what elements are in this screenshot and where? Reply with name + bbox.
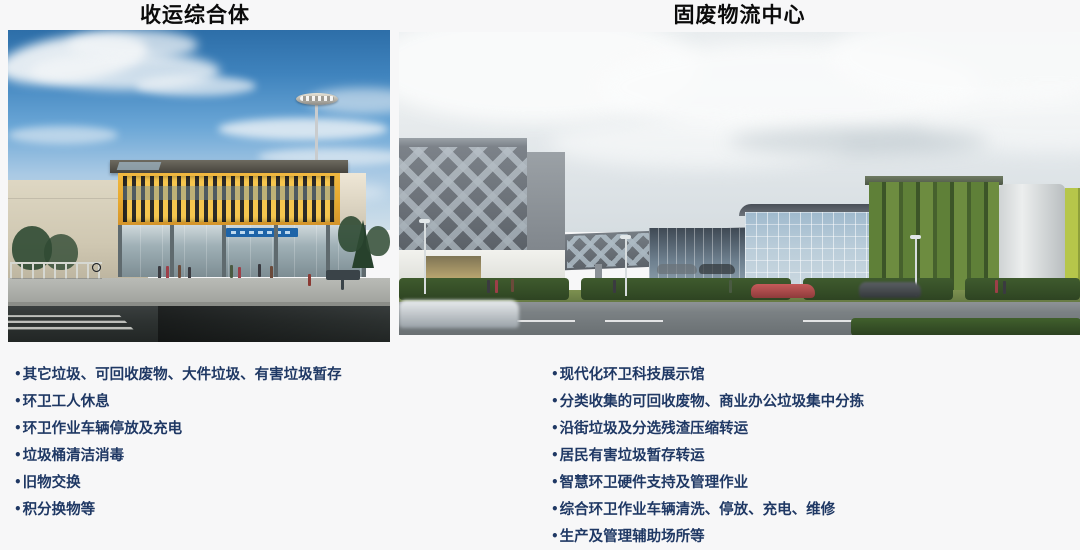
- list-item: 环卫工人休息: [14, 388, 342, 415]
- list-item: 生产及管理辅助场所等: [551, 523, 864, 550]
- foreground-planting: [851, 318, 1080, 335]
- diamond-lattice-pattern: [399, 144, 527, 256]
- left-rendering-image: [8, 30, 390, 342]
- pedestrian: [230, 265, 233, 278]
- tree: [366, 226, 390, 256]
- car-parked: [657, 264, 697, 274]
- left-scene: [8, 30, 390, 342]
- lane-marking: [517, 320, 575, 322]
- column: [274, 225, 278, 277]
- light-pole-head: [296, 93, 338, 105]
- car-red: [751, 284, 815, 298]
- cloud: [218, 118, 388, 140]
- list-item: 旧物交换: [14, 469, 342, 496]
- column: [222, 225, 226, 277]
- pedestrian: [495, 280, 498, 293]
- tree: [338, 216, 364, 252]
- building-side-wall: [527, 152, 565, 256]
- plaza-paving: [8, 278, 390, 304]
- bollard: [308, 274, 311, 286]
- slide-root: 收运综合体 固废物流中心: [0, 0, 1080, 548]
- right-feature-list: 现代化环卫科技展示馆 分类收集的可回收废物、商业办公垃圾集中分拣 沿街垃圾及分选…: [551, 361, 864, 550]
- cloud: [136, 76, 256, 96]
- building-parapet: [399, 138, 527, 147]
- shelter-post: [341, 278, 344, 290]
- street-lamp-head: [419, 219, 430, 223]
- list-item: 综合环卫作业车辆清洗、停放、充电、维修: [551, 496, 864, 523]
- street-lamp-head: [620, 235, 631, 239]
- list-item: 现代化环卫科技展示馆: [551, 361, 864, 388]
- pedestrian: [995, 280, 998, 293]
- cloud-shadow: [729, 128, 989, 154]
- louver-glazing: [123, 186, 335, 200]
- pedestrian: [1003, 281, 1006, 294]
- right-rendering-image: [399, 32, 1080, 335]
- hedge: [965, 278, 1080, 300]
- column: [170, 225, 174, 277]
- road-shadow: [158, 306, 390, 342]
- list-item: 居民有害垃圾暂存转运: [551, 442, 864, 469]
- roof-slab: [110, 160, 348, 173]
- list-item: 积分换物等: [14, 496, 342, 523]
- fence-railing: [10, 262, 102, 279]
- car-parked: [699, 264, 735, 274]
- pedestrian: [729, 280, 732, 293]
- cloud: [68, 30, 198, 60]
- street-lamp-mast: [424, 222, 426, 294]
- list-item: 垃圾桶清洁消毒: [14, 442, 342, 469]
- podium-glazing: [425, 256, 481, 280]
- right-scene: [399, 32, 1080, 335]
- pedestrian: [613, 280, 616, 293]
- right-feature-list-items: 现代化环卫科技展示馆 分类收集的可回收废物、商业办公垃圾集中分拣 沿街垃圾及分选…: [551, 361, 864, 550]
- bicycle: [92, 258, 108, 272]
- column: [118, 225, 122, 277]
- list-item: 智慧环卫硬件支持及管理作业: [551, 469, 864, 496]
- list-item: 其它垃圾、可回收废物、大件垃圾、有害垃圾暂存: [14, 361, 342, 388]
- cloud: [8, 126, 118, 144]
- lane-marking: [605, 320, 663, 322]
- pedestrian: [178, 265, 181, 278]
- pedestrian: [487, 280, 490, 293]
- crosswalk-zebra: [8, 315, 136, 332]
- car-grey: [859, 282, 921, 298]
- car-white-motion-blur: [399, 300, 519, 328]
- list-item: 分类收集的可回收废物、商业办公垃圾集中分拣: [551, 388, 864, 415]
- left-feature-list: 其它垃圾、可回收废物、大件垃圾、有害垃圾暂存 环卫工人休息 环卫作业车辆停放及充…: [14, 361, 342, 523]
- roof-skylight: [117, 162, 162, 170]
- list-item: 环卫作业车辆停放及充电: [14, 415, 342, 442]
- left-feature-list-items: 其它垃圾、可回收废物、大件垃圾、有害垃圾暂存 环卫工人休息 环卫作业车辆停放及充…: [14, 361, 342, 523]
- list-item: 沿街垃圾及分选残渣压缩转运: [551, 415, 864, 442]
- page-title-left: 收运综合体: [0, 2, 390, 28]
- street-lamp-head: [910, 235, 921, 239]
- entrance-signage: [226, 228, 298, 237]
- pedestrian: [511, 279, 514, 292]
- page-title-right: 固废物流中心: [399, 2, 1080, 28]
- pedestrian: [258, 264, 261, 277]
- main-building: [118, 160, 340, 288]
- street-lamp-mast: [625, 238, 627, 296]
- lattice-facade-building: [399, 144, 527, 256]
